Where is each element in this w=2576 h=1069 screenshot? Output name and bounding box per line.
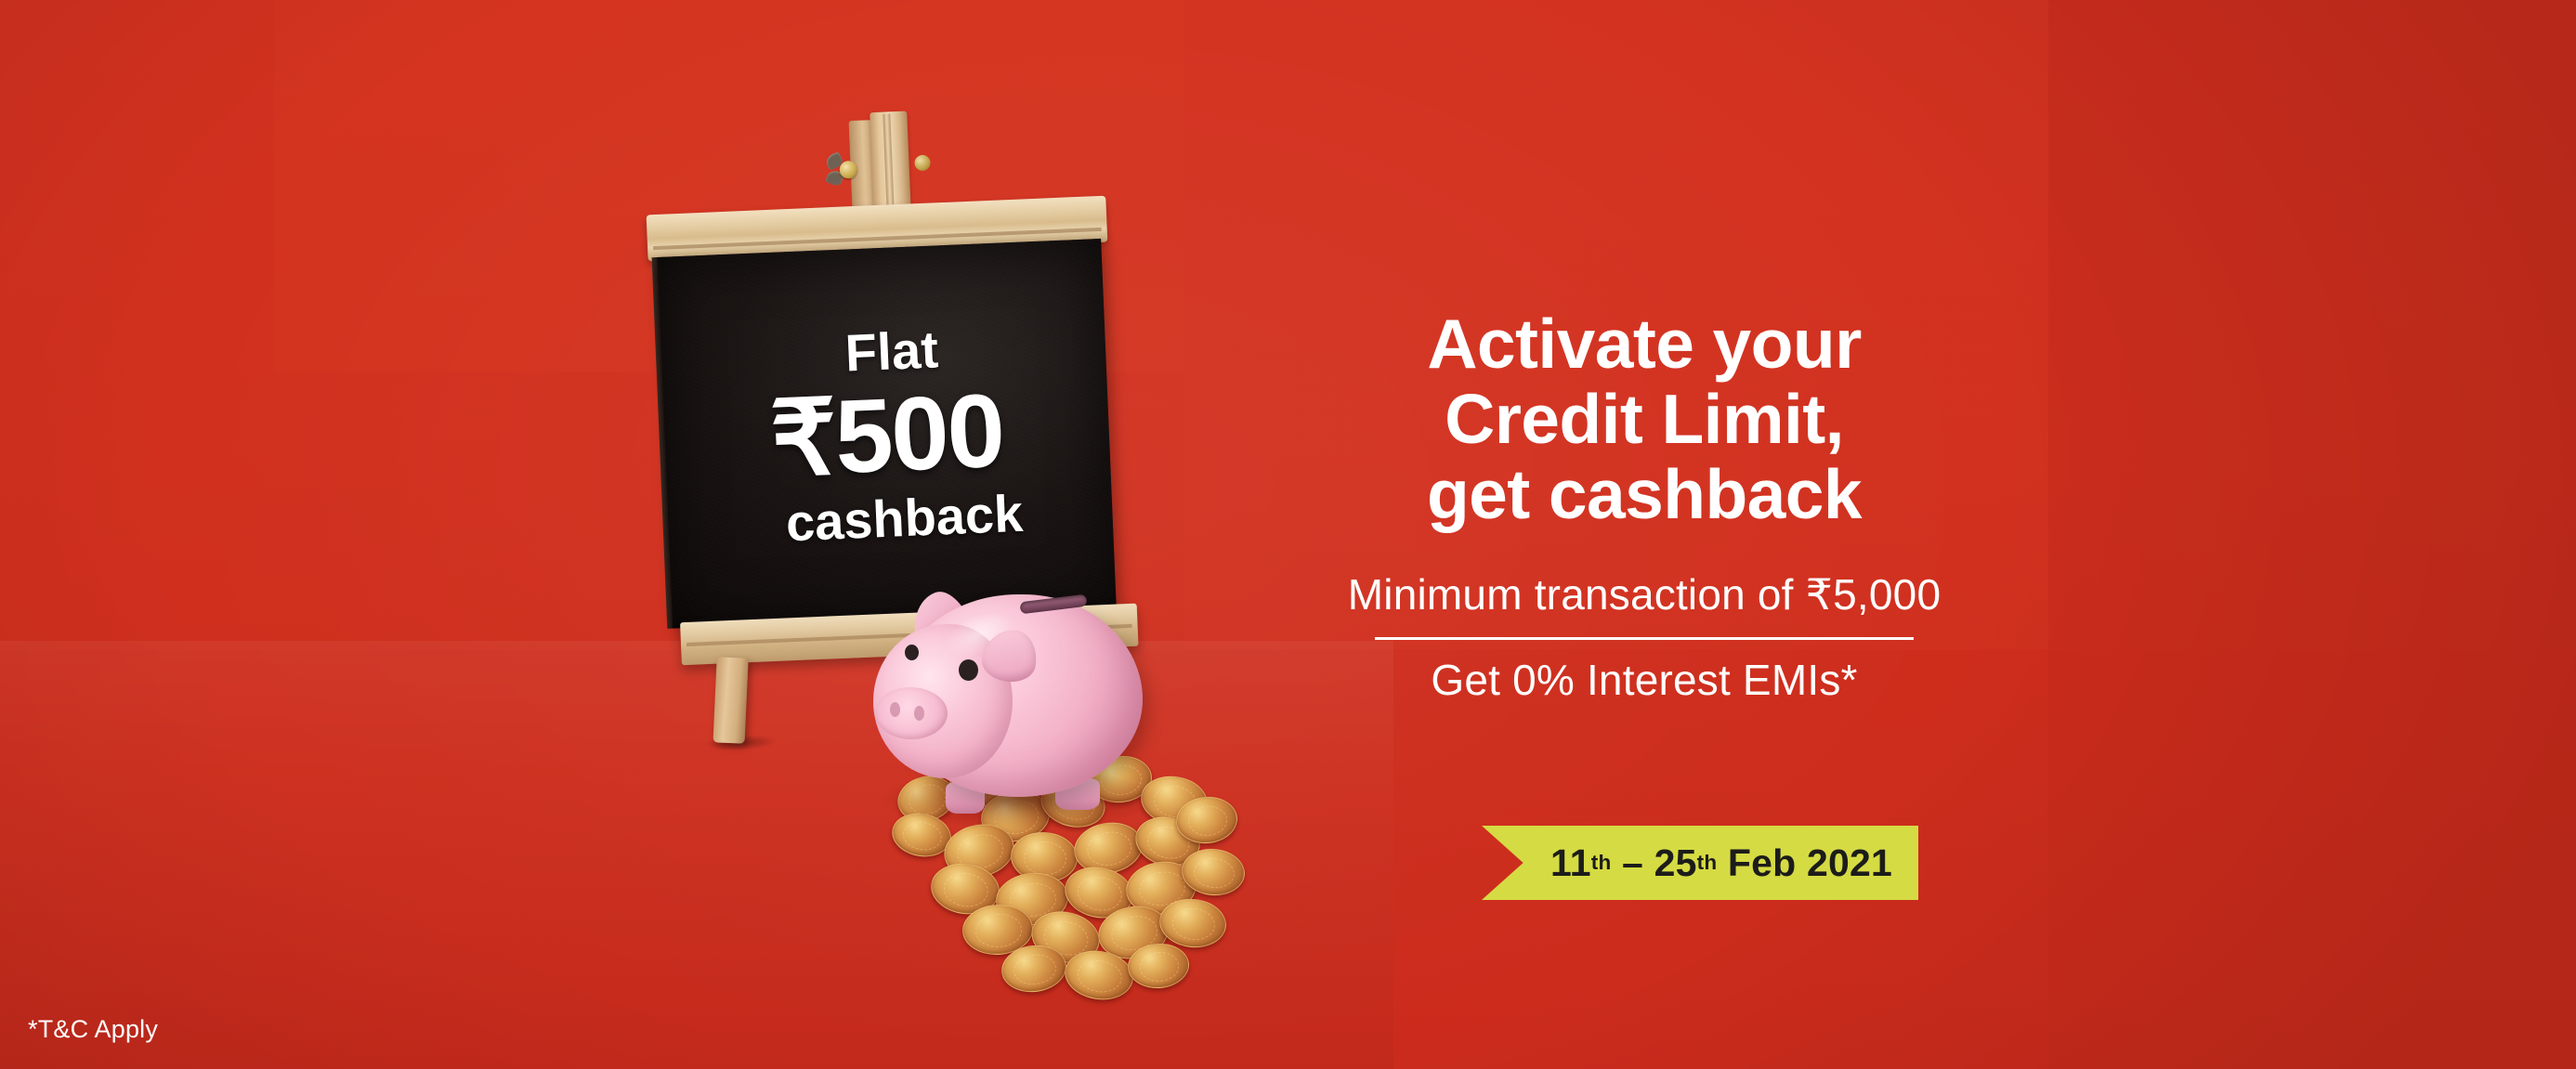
promo-copy-block: Activate your Credit Limit, get cashback… [1301,306,1988,708]
piggy-nostril-left [890,702,900,717]
pink-piggy-bank-icon [873,567,1170,845]
date-start-suffix: th [1591,851,1612,875]
easel-screw-right [914,155,931,172]
date-separator: – [1622,841,1643,885]
subheadline-minimum-transaction: Minimum transaction of ₹5,000 [1301,567,1988,622]
headline-line-3: get cashback [1301,457,1988,532]
subheadline-divider [1375,637,1914,640]
subheadline-interest-emi: Get 0% Interest EMIs* [1301,653,1988,708]
date-end-day: 25 [1654,841,1697,885]
headline: Activate your Credit Limit, get cashback [1301,306,1988,532]
easel-front-leg [713,657,749,743]
piggy-snout [875,687,948,739]
headline-line-2: Credit Limit, [1301,382,1988,457]
chalkboard-amount: ₹500 [768,378,1005,491]
piggy-eye-near [959,659,978,681]
date-start-day: 11 [1550,841,1591,885]
offer-date-badge: 11th – 25th Feb 2021 [1482,826,1918,900]
date-end-suffix: th [1697,851,1718,875]
piggy-nostril-right [914,706,924,721]
terms-and-conditions-note: *T&C Apply [28,1015,158,1044]
wingnut-hub [839,161,857,179]
date-month-year: Feb 2021 [1728,841,1892,885]
piggy-eye-far [905,645,919,660]
background-vignette [0,0,2576,1069]
subheadline-group: Minimum transaction of ₹5,000 Get 0% Int… [1301,567,1988,708]
easel-wingnut-icon [826,153,864,187]
promotional-banner: Flat ₹500 cashback [0,0,2576,1069]
chalkboard-flat-label: Flat [828,323,940,380]
chalkboard-cashback-label: cashback [757,487,1024,550]
headline-line-1: Activate your [1301,306,1988,382]
date-badge-label: 11th – 25th Feb 2021 [1482,826,1918,900]
